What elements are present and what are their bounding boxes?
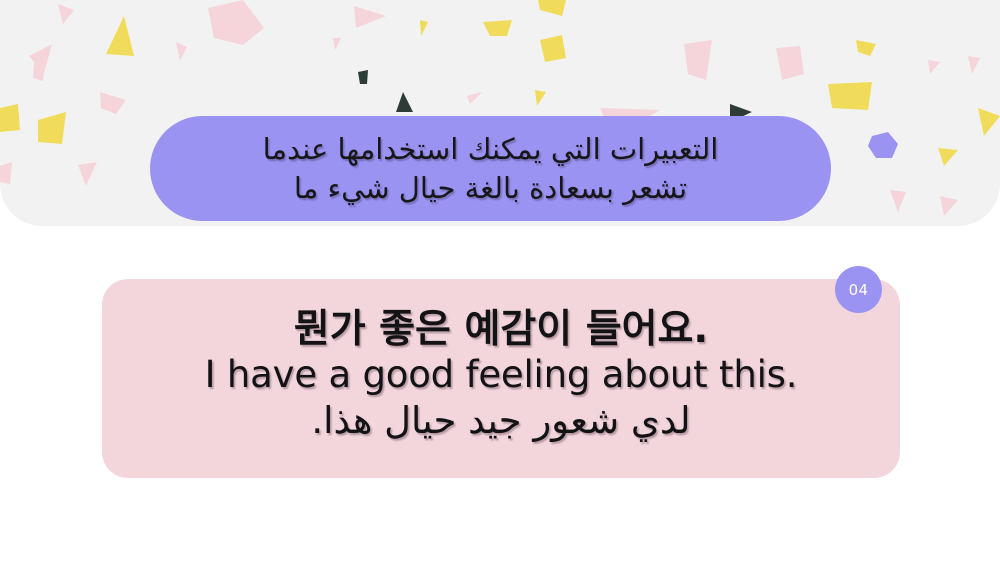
yellow-cup xyxy=(483,20,512,36)
yellow-sliver xyxy=(856,40,876,56)
pink-penta xyxy=(208,0,264,45)
title-pill: التعبيرات التي يمكنك استخدامها عندما تشع… xyxy=(150,116,831,221)
yellow-edge xyxy=(0,104,20,132)
slide-number-badge: 04 xyxy=(835,266,882,313)
green-tri xyxy=(396,92,413,112)
pink-nib-3 xyxy=(928,60,940,74)
title-text: التعبيرات التي يمكنك استخدامها عندما تشع… xyxy=(263,130,719,208)
pink-quad-3 xyxy=(684,40,712,80)
pink-tri-bot-2 xyxy=(940,196,958,216)
pink-nib-2 xyxy=(467,92,482,104)
yellow-tri-3 xyxy=(938,148,958,166)
pink-nib-4 xyxy=(968,56,980,74)
yellow-triangle xyxy=(106,16,134,56)
yellow-quad xyxy=(38,112,66,144)
yellow-nib xyxy=(420,20,428,36)
korean-phrase: 뭔가 좋은 예감이 들어요. xyxy=(294,308,708,352)
yellow-tri-sm xyxy=(535,90,546,106)
pink-quad-2 xyxy=(100,92,126,114)
pink-penta-2 xyxy=(776,46,804,80)
purple-hex xyxy=(868,132,898,158)
pink-quad xyxy=(33,60,45,81)
yellow-corner xyxy=(978,108,1000,136)
phrase-card: 뭔가 좋은 예감이 들어요. I have a good feeling abo… xyxy=(102,279,900,478)
yellow-chunk xyxy=(538,0,566,16)
pink-tri-small xyxy=(176,42,187,61)
pink-nib xyxy=(333,38,341,50)
pink-edge xyxy=(0,162,12,184)
pink-sliver xyxy=(58,4,74,24)
pink-tri-wide xyxy=(354,6,386,28)
english-phrase: I have a good feeling about this. xyxy=(205,352,798,397)
pink-triangle-2 xyxy=(78,162,97,186)
yellow-big-2 xyxy=(828,82,872,110)
green-chip xyxy=(358,70,368,84)
arabic-phrase: لدي شعور جيد حيال هذا. xyxy=(311,398,690,443)
yellow-big xyxy=(540,35,566,62)
pink-tri-bot xyxy=(890,190,906,212)
slide-number-label: 04 xyxy=(849,281,869,299)
